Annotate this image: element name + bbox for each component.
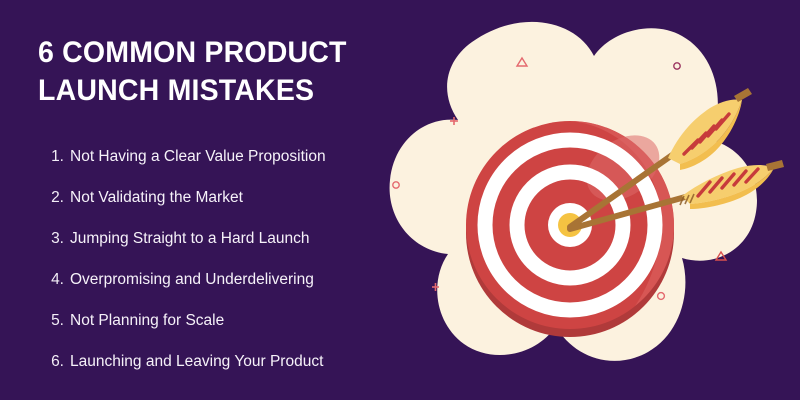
page-title-line-2: Launch Mistakes: [38, 72, 352, 110]
list-item-label: Launching and Leaving Your Product: [70, 341, 323, 382]
arrow-upper-nock: [734, 88, 752, 102]
list-item-label: Overpromising and Underdelivering: [70, 259, 314, 300]
list-item: 1. Not Having a Clear Value Proposition: [38, 136, 420, 177]
target-illustration: [380, 0, 800, 400]
list-item-number: 6.: [38, 341, 64, 382]
list-item-number: 4.: [38, 259, 64, 300]
list-item: 3. Jumping Straight to a Hard Launch: [38, 218, 420, 259]
page-title-line-1: 6 Common Product: [38, 34, 352, 72]
content-column: 6 Common Product Launch Mistakes 1. Not …: [0, 0, 420, 400]
list-item: 6. Launching and Leaving Your Product: [38, 341, 420, 382]
list-item-number: 3.: [38, 218, 64, 259]
list-item: 2. Not Validating the Market: [38, 177, 420, 218]
arrow-lower-nock: [766, 160, 784, 171]
list-item: 4. Overpromising and Underdelivering: [38, 259, 420, 300]
list-item-label: Jumping Straight to a Hard Launch: [70, 218, 310, 259]
list-item-label: Not Planning for Scale: [70, 300, 224, 341]
list-item-number: 2.: [38, 177, 64, 218]
list-item-number: 1.: [38, 136, 64, 177]
list-item: 5. Not Planning for Scale: [38, 300, 420, 341]
list-item-label: Not Validating the Market: [70, 177, 243, 218]
slide-root: 6 Common Product Launch Mistakes 1. Not …: [0, 0, 800, 400]
mistakes-list: 1. Not Having a Clear Value Proposition …: [38, 136, 420, 382]
list-item-number: 5.: [38, 300, 64, 341]
page-title: 6 Common Product Launch Mistakes: [38, 34, 352, 110]
target-illustration-svg: [380, 0, 800, 400]
list-item-label: Not Having a Clear Value Proposition: [70, 136, 326, 177]
